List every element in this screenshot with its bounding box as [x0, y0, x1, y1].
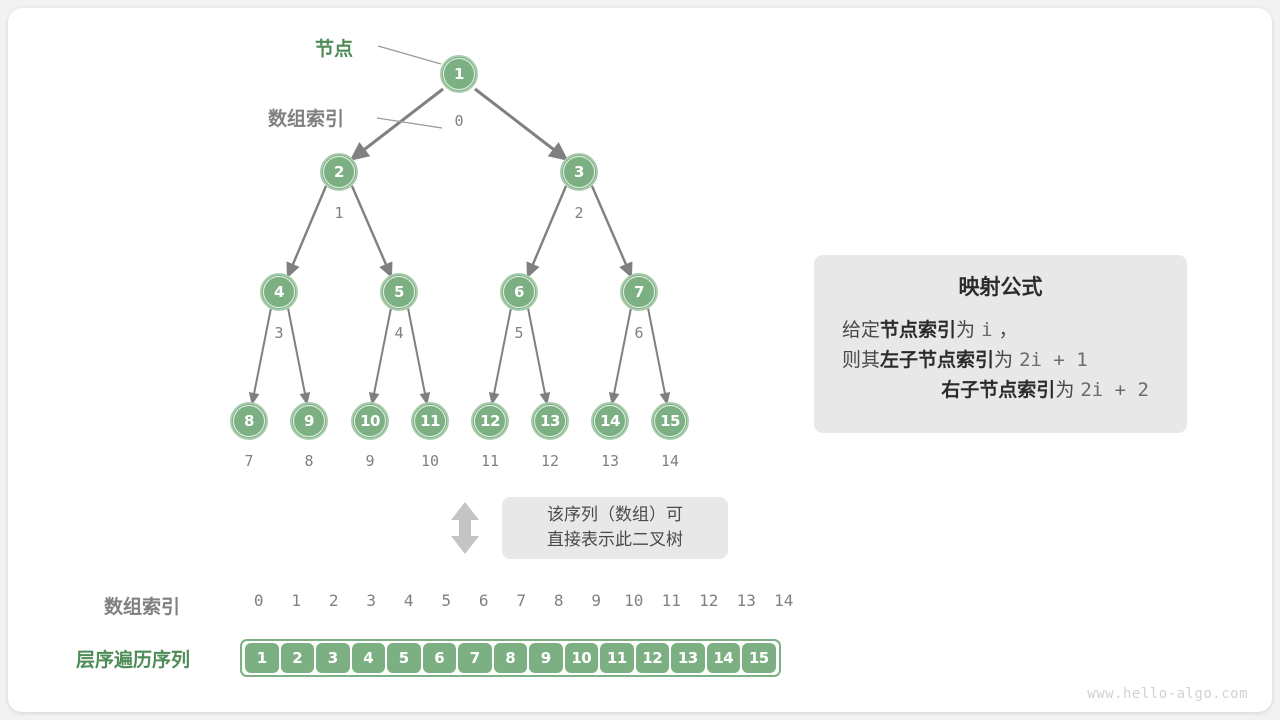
array-cell: 11	[600, 643, 634, 673]
array-index-cell: 2	[315, 591, 353, 610]
tree-node: 3	[560, 153, 598, 191]
tree-node-index-label: 8	[294, 452, 324, 470]
tree-node-value: 2	[334, 163, 344, 181]
callout-array-index-label: 数组索引	[268, 104, 344, 131]
tree-node-index-label: 13	[595, 452, 625, 470]
formula-l1-var: i	[981, 319, 992, 341]
tree-node-index-label: 2	[564, 204, 594, 222]
array-index-cell: 0	[240, 591, 278, 610]
formula-l2-expr: 2i + 1	[1019, 349, 1088, 371]
mapping-formula-box: 映射公式 给定节点索引为 i ， 则其左子节点索引为 2i + 1 右子节点索引…	[814, 255, 1187, 433]
array-cell: 13	[671, 643, 705, 673]
array-cell: 3	[316, 643, 350, 673]
tree-node: 9	[290, 402, 328, 440]
array-index-cell: 14	[765, 591, 803, 610]
tree-node-value: 9	[304, 412, 314, 430]
tree-node-index-label: 11	[475, 452, 505, 470]
tree-node-value: 11	[420, 412, 440, 430]
tree-node: 6	[500, 273, 538, 311]
array-index-cell: 5	[428, 591, 466, 610]
tree-node-index-label: 1	[324, 204, 354, 222]
tree-node-value: 8	[244, 412, 254, 430]
array-index-cell: 1	[278, 591, 316, 610]
tree-node-value: 6	[514, 283, 524, 301]
tree-node-index-label: 4	[384, 324, 414, 342]
tree-node: 12	[471, 402, 509, 440]
tree-node-index-label: 7	[234, 452, 264, 470]
tree-node-value: 5	[394, 283, 404, 301]
array-cell: 6	[423, 643, 457, 673]
tree-node: 11	[411, 402, 449, 440]
tree-node-index-label: 6	[624, 324, 654, 342]
tree-node: 8	[230, 402, 268, 440]
level-order-array: 123456789101112131415	[240, 639, 781, 677]
up-down-arrow-icon	[448, 500, 482, 556]
tree-node: 1	[440, 55, 478, 93]
array-cell: 7	[458, 643, 492, 673]
tree-node-value: 14	[600, 412, 620, 430]
array-index-cell: 8	[540, 591, 578, 610]
bottom-level-order-label: 层序遍历序列	[76, 645, 190, 672]
tree-node-value: 13	[540, 412, 560, 430]
array-cell: 12	[636, 643, 670, 673]
tree-node: 4	[260, 273, 298, 311]
tree-node-value: 3	[574, 163, 584, 181]
tree-node: 7	[620, 273, 658, 311]
tree-node-index-label: 14	[655, 452, 685, 470]
array-index-row: 01234567891011121314	[240, 591, 803, 610]
array-index-cell: 6	[465, 591, 503, 610]
formula-line-2: 则其左子节点索引为 2i + 1	[834, 345, 1167, 375]
formula-title: 映射公式	[834, 271, 1167, 301]
array-index-cell: 3	[353, 591, 391, 610]
tree-node-value: 15	[660, 412, 680, 430]
formula-l1-mid: 为	[956, 319, 981, 341]
formula-l2-pre: 则其	[842, 349, 880, 371]
watermark: www.hello-algo.com	[1087, 686, 1248, 702]
array-cell: 15	[742, 643, 776, 673]
formula-l1-post: ，	[993, 319, 1018, 341]
tree-node-index-label: 3	[264, 324, 294, 342]
note-line-1: 该序列（数组）可	[547, 503, 683, 528]
formula-l3-expr: 2i + 2	[1080, 379, 1149, 401]
array-cell: 1	[245, 643, 279, 673]
array-index-cell: 10	[615, 591, 653, 610]
tree-node-index-label: 12	[535, 452, 565, 470]
array-index-cell: 7	[503, 591, 541, 610]
array-cell: 9	[529, 643, 563, 673]
formula-l2-mid: 为	[994, 349, 1019, 371]
tree-node: 14	[591, 402, 629, 440]
tree-node: 13	[531, 402, 569, 440]
sequence-note-box: 该序列（数组）可 直接表示此二叉树	[502, 497, 728, 559]
tree-node-value: 10	[360, 412, 380, 430]
array-cell: 4	[352, 643, 386, 673]
tree-node-index-label: 5	[504, 324, 534, 342]
formula-line-3: 右子节点索引为 2i + 2	[834, 375, 1167, 405]
tree-node-index-label: 0	[444, 112, 474, 130]
callout-node-label: 节点	[315, 34, 353, 61]
formula-l2-bold: 左子节点索引	[880, 349, 994, 371]
array-index-cell: 9	[578, 591, 616, 610]
array-cell: 5	[387, 643, 421, 673]
array-cell: 14	[707, 643, 741, 673]
tree-node-index-label: 9	[355, 452, 385, 470]
tree-node-value: 4	[274, 283, 284, 301]
formula-l3-mid: 为	[1055, 379, 1080, 401]
array-index-cell: 11	[653, 591, 691, 610]
array-index-cell: 4	[390, 591, 428, 610]
tree-node: 10	[351, 402, 389, 440]
tree-node-index-label: 10	[415, 452, 445, 470]
tree-node-value: 1	[454, 65, 464, 83]
array-cell: 8	[494, 643, 528, 673]
tree-node: 15	[651, 402, 689, 440]
tree-node: 2	[320, 153, 358, 191]
array-index-cell: 13	[728, 591, 766, 610]
array-index-cell: 12	[690, 591, 728, 610]
bottom-array-index-label: 数组索引	[104, 592, 180, 619]
tree-node-value: 12	[480, 412, 500, 430]
tree-node: 5	[380, 273, 418, 311]
formula-l1-pre: 给定	[842, 319, 880, 341]
array-cell: 10	[565, 643, 599, 673]
note-line-2: 直接表示此二叉树	[547, 528, 683, 553]
formula-line-1: 给定节点索引为 i ，	[834, 315, 1167, 345]
tree-node-value: 7	[634, 283, 644, 301]
formula-l3-bold: 右子节点索引	[941, 379, 1055, 401]
array-cell: 2	[281, 643, 315, 673]
formula-l1-bold: 节点索引	[880, 319, 956, 341]
diagram-canvas: 1021324354657687981091110121113121413151…	[0, 0, 1280, 720]
